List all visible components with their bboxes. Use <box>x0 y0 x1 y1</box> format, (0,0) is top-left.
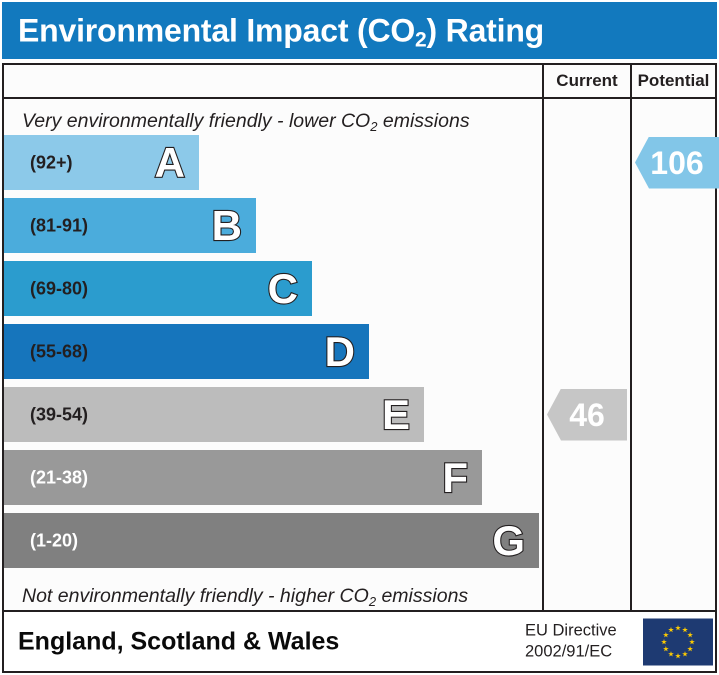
caption-bottom-suffix: emissions <box>376 585 468 607</box>
rating-marker-current: 46 <box>547 389 627 441</box>
footer-bar: England, Scotland & Wales EU Directive 2… <box>2 612 717 673</box>
page-title: Environmental Impact (CO2) Rating <box>18 12 544 49</box>
rating-band-a: (92+)A <box>4 135 199 190</box>
band-letter-e: E <box>382 394 410 436</box>
footer-directive-line2: 2002/91/EC <box>525 642 617 663</box>
caption-top-prefix: Very environmentally friendly - lower CO <box>22 110 370 132</box>
column-header-current: Current <box>544 65 630 97</box>
band-letter-b: B <box>212 205 242 247</box>
eu-flag-icon <box>643 618 713 665</box>
rating-band-c: (69-80)C <box>4 261 312 316</box>
band-range-f: (21-38) <box>30 467 88 488</box>
column-header-potential: Potential <box>632 65 715 97</box>
footer-directive-line1: EU Directive <box>525 620 617 641</box>
caption-bottom-subscript: 2 <box>369 594 376 609</box>
band-letter-c: C <box>268 268 298 310</box>
band-range-b: (81-91) <box>30 215 88 236</box>
title-banner: Environmental Impact (CO2) Rating <box>2 2 717 59</box>
band-range-e: (39-54) <box>30 404 88 425</box>
caption-top: Very environmentally friendly - lower CO… <box>22 110 470 133</box>
page-title-subscript: 2 <box>415 28 426 51</box>
rating-band-d: (55-68)D <box>4 324 369 379</box>
band-letter-a: A <box>155 142 185 184</box>
rating-band-e: (39-54)E <box>4 387 424 442</box>
caption-bottom-prefix: Not environmentally friendly - higher CO <box>22 585 369 607</box>
rating-marker-potential: 106 <box>635 137 719 189</box>
band-letter-f: F <box>442 457 468 499</box>
rating-band-f: (21-38)F <box>4 450 482 505</box>
epc-environmental-impact-certificate: Environmental Impact (CO2) Rating Curren… <box>0 0 719 675</box>
footer-region-label: England, Scotland & Wales <box>18 627 339 656</box>
caption-bottom: Not environmentally friendly - higher CO… <box>22 585 468 608</box>
footer-directive: EU Directive 2002/91/EC <box>525 620 617 663</box>
page-title-suffix: ) Rating <box>427 12 545 48</box>
column-divider-potential <box>630 65 632 610</box>
rating-table: Current Potential Very environmentally f… <box>2 63 717 612</box>
rating-band-b: (81-91)B <box>4 198 256 253</box>
band-range-a: (92+) <box>30 152 73 173</box>
caption-top-suffix: emissions <box>377 110 469 132</box>
band-letter-g: G <box>492 520 525 562</box>
rating-band-g: (1-20)G <box>4 513 539 568</box>
page-title-prefix: Environmental Impact (CO <box>18 12 415 48</box>
band-letter-d: D <box>325 331 355 373</box>
band-range-g: (1-20) <box>30 530 78 551</box>
band-range-c: (69-80) <box>30 278 88 299</box>
column-divider-current <box>542 65 544 610</box>
band-range-d: (55-68) <box>30 341 88 362</box>
caption-top-subscript: 2 <box>370 119 377 134</box>
